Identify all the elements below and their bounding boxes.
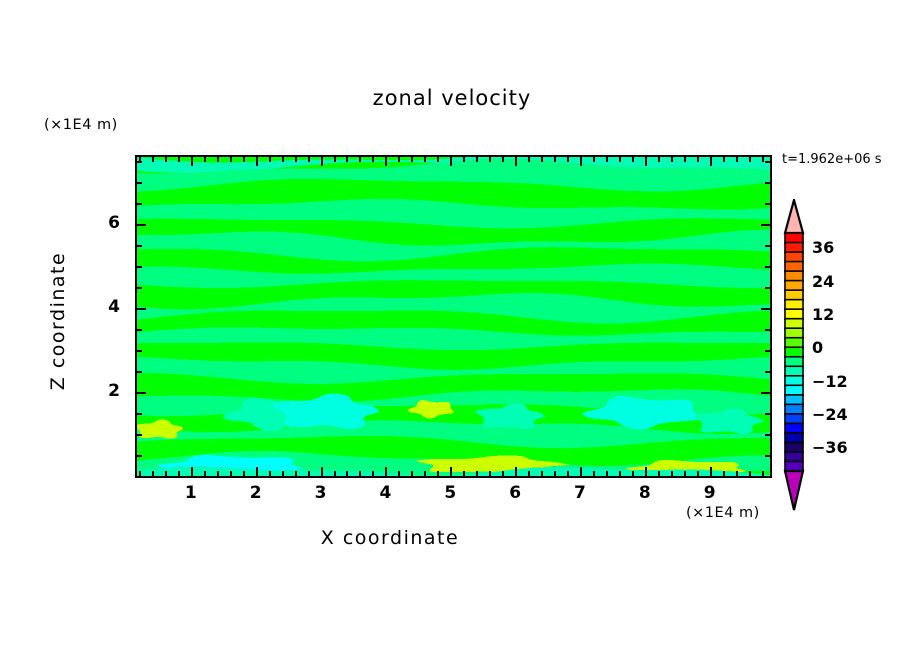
- x-tick-minor-top: [372, 157, 374, 162]
- x-tick-minor: [749, 471, 751, 476]
- x-tick-label: 6: [495, 483, 535, 503]
- colorbar-tick-label: 12: [812, 305, 872, 324]
- x-tick-minor-top: [359, 157, 361, 162]
- x-tick-major: [385, 467, 387, 476]
- colorbar-swatches: [783, 199, 805, 511]
- x-tick-label: 9: [690, 483, 730, 503]
- y-tick-minor-right: [765, 203, 770, 205]
- x-tick-major-top: [515, 157, 517, 166]
- y-tick-minor: [137, 266, 142, 268]
- contour-plot-area[interactable]: [135, 155, 772, 478]
- y-tick-minor-right: [765, 161, 770, 163]
- x-tick-major: [256, 467, 258, 476]
- x-tick-minor-top: [411, 157, 413, 162]
- x-tick-minor: [762, 471, 764, 476]
- x-tick-minor: [372, 471, 374, 476]
- y-tick-minor: [137, 182, 142, 184]
- x-tick-minor-top: [230, 157, 232, 162]
- x-tick-major: [321, 467, 323, 476]
- x-tick-major: [580, 467, 582, 476]
- x-tick-major-top: [256, 157, 258, 166]
- page-title: zonal velocity: [0, 86, 904, 110]
- x-tick-minor-top: [269, 157, 271, 162]
- x-tick-minor: [619, 471, 621, 476]
- x-tick-minor: [269, 471, 271, 476]
- x-tick-minor-top: [424, 157, 426, 162]
- y-tick-minor-right: [765, 350, 770, 352]
- colorbar-tick-label: −36: [812, 438, 872, 457]
- x-tick-major-top: [710, 157, 712, 166]
- y-tick-minor: [137, 350, 142, 352]
- x-tick-minor-top: [762, 157, 764, 162]
- x-tick-minor-top: [437, 157, 439, 162]
- timestamp-annotation: t=1.962e+06 s: [782, 152, 882, 167]
- y-axis-unit-label: (×1E4 m): [44, 117, 118, 133]
- x-tick-minor: [308, 471, 310, 476]
- x-tick-minor: [165, 471, 167, 476]
- colorbar-tick-label: 36: [812, 238, 872, 257]
- y-tick-minor: [137, 455, 142, 457]
- x-tick-minor: [476, 471, 478, 476]
- x-tick-minor: [723, 471, 725, 476]
- x-tick-minor: [658, 471, 660, 476]
- x-tick-minor: [217, 471, 219, 476]
- x-tick-minor-top: [632, 157, 634, 162]
- x-tick-minor: [243, 471, 245, 476]
- x-tick-minor: [437, 471, 439, 476]
- x-tick-label: 2: [236, 483, 276, 503]
- x-tick-minor: [502, 471, 504, 476]
- x-tick-minor-top: [217, 157, 219, 162]
- x-tick-major-top: [450, 157, 452, 166]
- x-tick-major: [191, 467, 193, 476]
- x-axis-unit-label: (×1E4 m): [686, 505, 760, 521]
- y-tick-major-right: [761, 308, 770, 310]
- x-tick-minor: [463, 471, 465, 476]
- x-tick-major-top: [321, 157, 323, 166]
- x-tick-minor: [398, 471, 400, 476]
- x-tick-minor-top: [463, 157, 465, 162]
- y-tick-minor: [137, 413, 142, 415]
- x-tick-minor-top: [178, 157, 180, 162]
- y-tick-minor: [137, 245, 142, 247]
- x-tick-minor: [230, 471, 232, 476]
- contour-field: [137, 157, 770, 476]
- y-tick-minor-right: [765, 329, 770, 331]
- x-tick-label: 5: [430, 483, 470, 503]
- x-tick-minor: [295, 471, 297, 476]
- x-tick-minor-top: [295, 157, 297, 162]
- colorbar[interactable]: [783, 199, 805, 511]
- x-tick-minor-top: [308, 157, 310, 162]
- x-tick-label: 1: [171, 483, 211, 503]
- colorbar-tick-label: −24: [812, 405, 872, 424]
- y-tick-minor-right: [765, 266, 770, 268]
- x-tick-minor: [178, 471, 180, 476]
- x-tick-minor: [697, 471, 699, 476]
- x-tick-minor: [528, 471, 530, 476]
- x-tick-minor: [606, 471, 608, 476]
- x-tick-minor: [541, 471, 543, 476]
- x-tick-minor-top: [671, 157, 673, 162]
- x-tick-minor-top: [204, 157, 206, 162]
- plot-title-text: zonal velocity: [373, 86, 532, 110]
- x-tick-major: [710, 467, 712, 476]
- x-tick-minor: [424, 471, 426, 476]
- x-tick-minor-top: [282, 157, 284, 162]
- x-tick-minor-top: [541, 157, 543, 162]
- x-tick-minor: [346, 471, 348, 476]
- x-tick-minor: [334, 471, 336, 476]
- x-tick-minor-top: [334, 157, 336, 162]
- x-tick-minor-top: [749, 157, 751, 162]
- x-tick-minor-top: [658, 157, 660, 162]
- x-tick-minor-top: [502, 157, 504, 162]
- x-tick-major-top: [385, 157, 387, 166]
- x-tick-major-top: [580, 157, 582, 166]
- x-tick-minor-top: [152, 157, 154, 162]
- y-tick-major: [137, 392, 146, 394]
- colorbar-tick-label: 0: [812, 338, 872, 357]
- y-axis-title: Z coordinate: [47, 236, 69, 406]
- y-tick-minor: [137, 371, 142, 373]
- y-tick-major-right: [761, 224, 770, 226]
- x-tick-minor: [567, 471, 569, 476]
- y-tick-minor: [137, 434, 142, 436]
- x-tick-minor: [736, 471, 738, 476]
- y-tick-label: 6: [88, 213, 120, 233]
- x-tick-minor-top: [606, 157, 608, 162]
- x-tick-minor-top: [554, 157, 556, 162]
- x-tick-minor-top: [567, 157, 569, 162]
- y-tick-minor-right: [765, 245, 770, 247]
- x-axis-title: X coordinate: [0, 527, 780, 549]
- y-tick-label: 2: [88, 381, 120, 401]
- x-tick-minor-top: [723, 157, 725, 162]
- x-tick-major: [450, 467, 452, 476]
- x-tick-minor-top: [476, 157, 478, 162]
- y-tick-minor-right: [765, 476, 770, 478]
- x-tick-minor-top: [736, 157, 738, 162]
- x-tick-label: 7: [560, 483, 600, 503]
- y-tick-major-right: [761, 392, 770, 394]
- x-tick-minor: [152, 471, 154, 476]
- x-tick-minor-top: [489, 157, 491, 162]
- x-tick-minor-top: [165, 157, 167, 162]
- y-tick-minor: [137, 287, 142, 289]
- x-tick-label: 8: [625, 483, 665, 503]
- x-tick-minor: [684, 471, 686, 476]
- y-tick-minor-right: [765, 455, 770, 457]
- y-tick-minor-right: [765, 413, 770, 415]
- x-tick-minor: [671, 471, 673, 476]
- x-tick-minor-top: [697, 157, 699, 162]
- y-tick-minor: [137, 203, 142, 205]
- y-tick-minor: [137, 161, 142, 163]
- x-tick-minor: [411, 471, 413, 476]
- y-tick-minor: [137, 329, 142, 331]
- x-tick-major-top: [645, 157, 647, 166]
- y-tick-major: [137, 224, 146, 226]
- x-tick-minor: [282, 471, 284, 476]
- x-tick-minor-top: [619, 157, 621, 162]
- x-tick-minor-top: [346, 157, 348, 162]
- x-tick-label: 3: [301, 483, 341, 503]
- x-tick-major: [515, 467, 517, 476]
- x-tick-major-top: [191, 157, 193, 166]
- y-tick-minor: [137, 476, 142, 478]
- y-tick-minor-right: [765, 371, 770, 373]
- y-tick-minor-right: [765, 182, 770, 184]
- colorbar-tick-label: 24: [812, 272, 872, 291]
- x-tick-minor: [554, 471, 556, 476]
- x-tick-minor: [593, 471, 595, 476]
- x-tick-minor: [204, 471, 206, 476]
- y-tick-minor-right: [765, 434, 770, 436]
- y-tick-label: 4: [88, 297, 120, 317]
- x-tick-minor: [359, 471, 361, 476]
- x-tick-minor: [632, 471, 634, 476]
- colorbar-tick-label: −12: [812, 372, 872, 391]
- y-tick-minor-right: [765, 287, 770, 289]
- x-tick-minor-top: [528, 157, 530, 162]
- x-tick-minor-top: [398, 157, 400, 162]
- y-tick-major: [137, 308, 146, 310]
- x-tick-label: 4: [365, 483, 405, 503]
- x-tick-minor: [489, 471, 491, 476]
- x-tick-major: [645, 467, 647, 476]
- x-tick-minor-top: [243, 157, 245, 162]
- x-tick-minor-top: [593, 157, 595, 162]
- x-tick-minor-top: [684, 157, 686, 162]
